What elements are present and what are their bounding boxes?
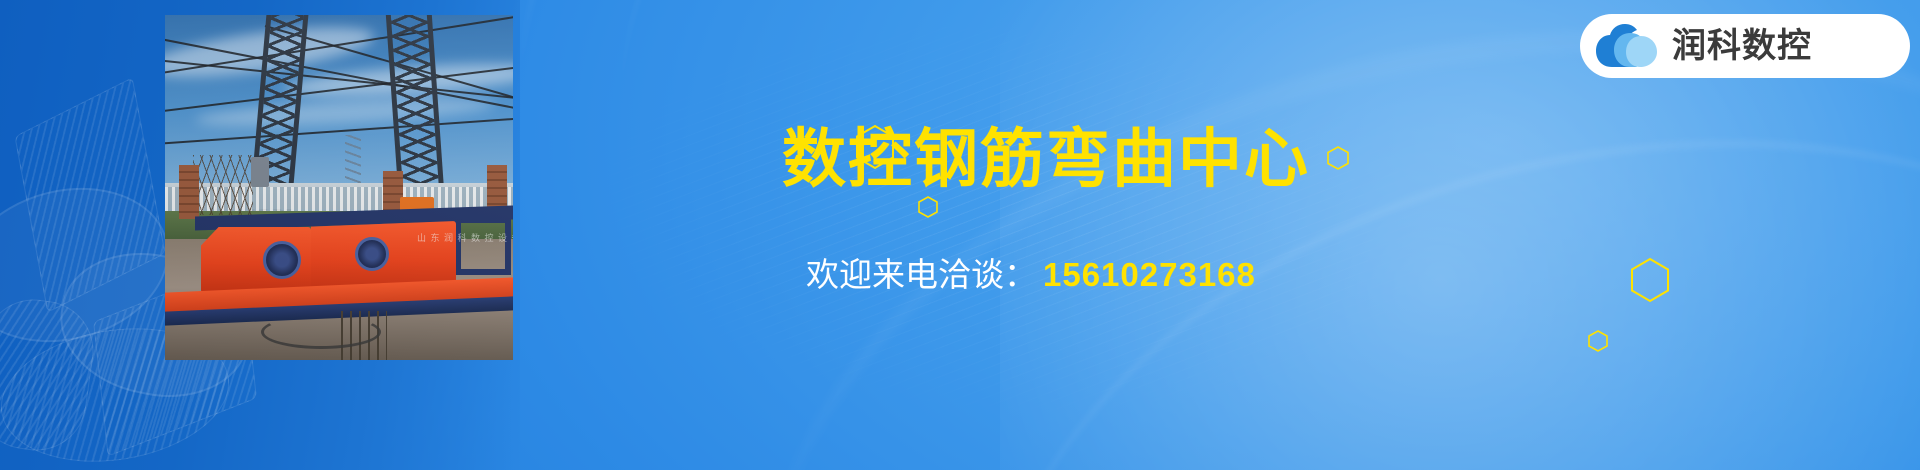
brand-logo-text: 润科数控 <box>1672 29 1812 63</box>
banner-headline: 数控钢筋弯曲中心 <box>782 128 1310 192</box>
contact-line: 欢迎来电洽谈：15610273168 <box>806 258 1256 291</box>
background-mesh-lines <box>415 0 1746 470</box>
hexagon-small-left-icon <box>918 196 938 218</box>
promo-banner: 山 东 润 科 数 控 设 备 数控钢筋弯曲中心 欢迎来电洽谈：15610273… <box>0 0 1920 470</box>
contact-lead-text: 欢迎来电洽谈： <box>806 255 1037 294</box>
cloud-droplet-icon <box>1596 24 1658 68</box>
brand-logo[interactable]: 润科数控 <box>1580 14 1910 78</box>
product-photo: 山 东 润 科 数 控 设 备 <box>165 15 513 360</box>
contact-phone-number: 15610273168 <box>1043 256 1256 293</box>
photo-tone-overlay <box>165 15 513 360</box>
hexagon-large-right-icon <box>1630 258 1670 302</box>
hexagon-small-right-icon <box>1588 330 1608 352</box>
hexagon-small-top-icon <box>1327 146 1349 170</box>
